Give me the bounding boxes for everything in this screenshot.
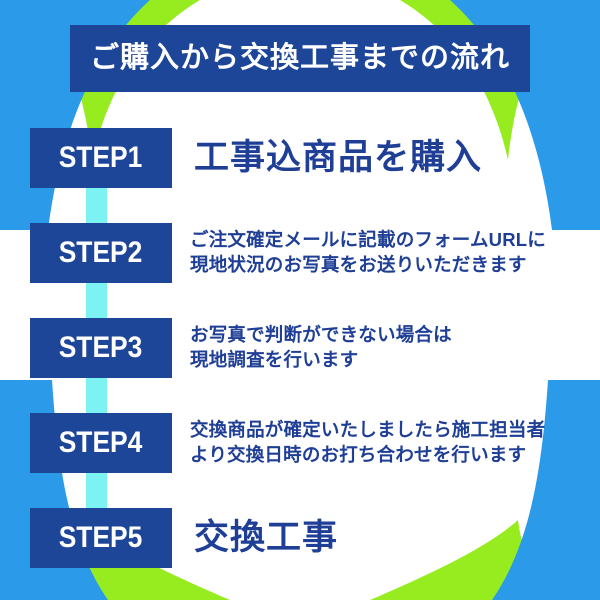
step-badge-1: STEP1 (30, 128, 172, 188)
step-row: STEP1 工事込商品を購入 (0, 110, 600, 205)
step-badge-label: STEP2 (59, 238, 143, 268)
flow-poster: ご購入から交換工事までの流れ STEP1 工事込商品を購入 STEP2 ご注文確… (0, 0, 600, 600)
step-row: STEP5 交換工事 (0, 490, 600, 585)
step-text-line: 交換商品が確定いたしましたら施工担当者 (190, 418, 545, 443)
step-list: STEP1 工事込商品を購入 STEP2 ご注文確定メールに記載のフォームURL… (0, 110, 600, 585)
step-description-4: 交換商品が確定いたしましたら施工担当者 より交換日時のお打ち合わせを行います (190, 418, 545, 468)
step-badge-5: STEP5 (30, 508, 172, 568)
step-text-line: より交換日時のお打ち合わせを行います (190, 443, 545, 468)
step-text-line: 工事込商品を購入 (194, 134, 482, 181)
step-badge-4: STEP4 (30, 413, 172, 473)
step-text-line: ご注文確定メールに記載のフォームURLに (190, 228, 546, 253)
step-badge-label: STEP4 (59, 428, 143, 458)
step-text-line: 現地状況のお写真をお送りいただきます (190, 253, 546, 278)
step-description-1: 工事込商品を購入 (194, 134, 482, 181)
page-title: ご購入から交換工事までの流れ (90, 44, 510, 73)
step-row: STEP4 交換商品が確定いたしましたら施工担当者 より交換日時のお打ち合わせを… (0, 395, 600, 490)
step-badge-label: STEP3 (59, 333, 143, 363)
header-banner: ご購入から交換工事までの流れ (70, 25, 530, 92)
step-row: STEP3 お写真で判断ができない場合は 現地調査を行います (0, 300, 600, 395)
step-badge-3: STEP3 (30, 318, 172, 378)
step-row: STEP2 ご注文確定メールに記載のフォームURLに 現地状況のお写真をお送りい… (0, 205, 600, 300)
step-badge-label: STEP5 (59, 523, 143, 553)
step-text-line: お写真で判断ができない場合は (190, 323, 452, 348)
step-description-5: 交換工事 (194, 514, 338, 561)
step-text-line: 交換工事 (194, 514, 338, 561)
step-badge-label: STEP1 (59, 143, 143, 173)
step-description-2: ご注文確定メールに記載のフォームURLに 現地状況のお写真をお送りいただきます (190, 228, 546, 278)
step-text-line: 現地調査を行います (190, 348, 452, 373)
step-badge-2: STEP2 (30, 223, 172, 283)
step-description-3: お写真で判断ができない場合は 現地調査を行います (190, 323, 452, 373)
